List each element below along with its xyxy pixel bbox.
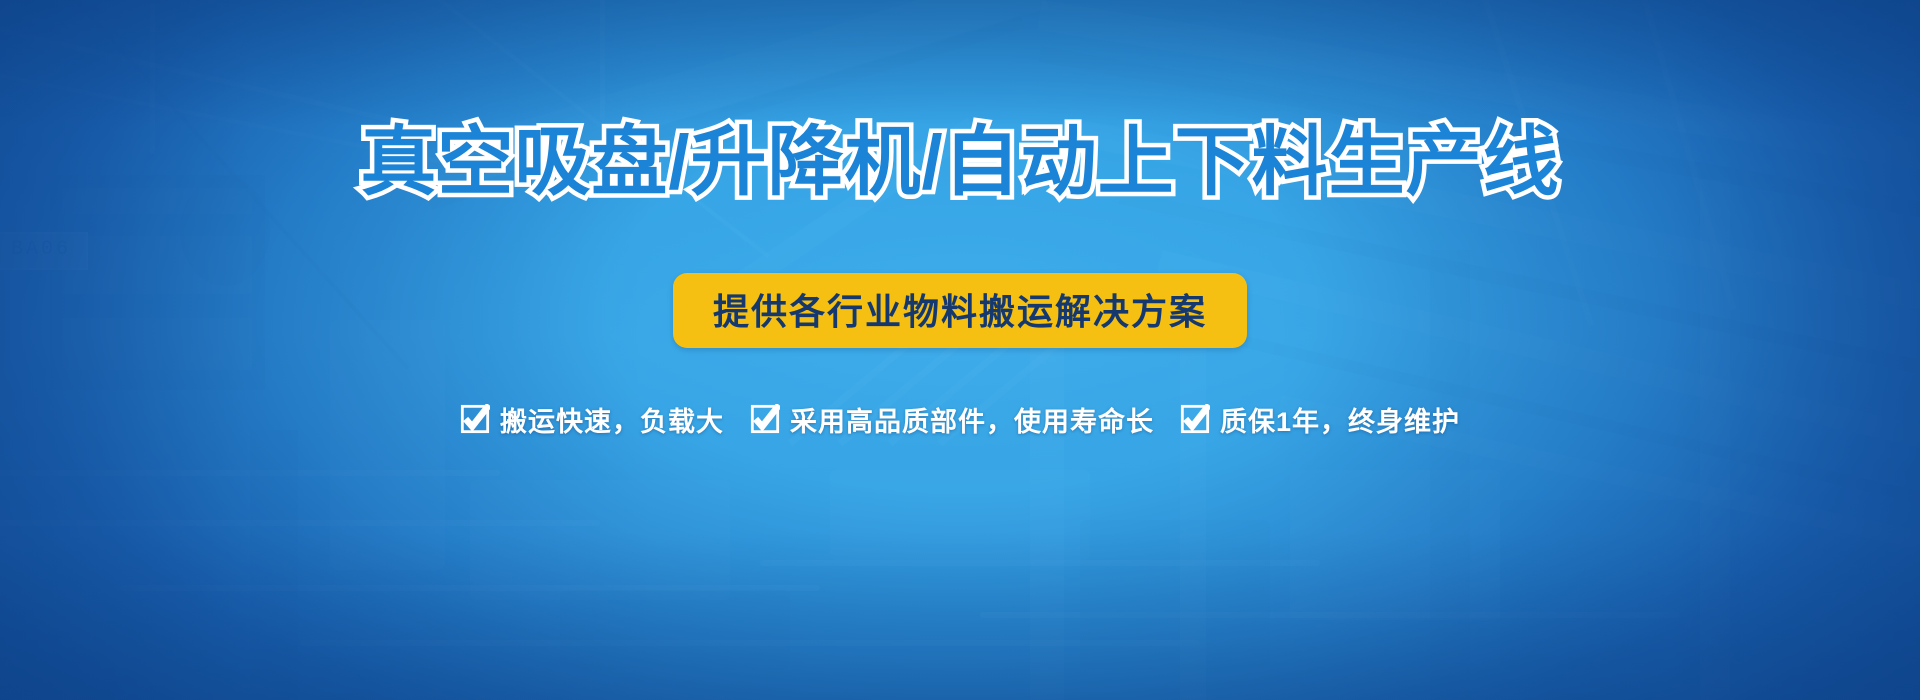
check-box-icon: [750, 404, 780, 434]
check-box-icon: [460, 404, 490, 434]
check-box-icon: [1180, 404, 1210, 434]
banner-headline: 真空吸盘/升降机/自动上下料生产线: [360, 122, 1559, 204]
feature-label: 搬运快速，负载大: [500, 400, 724, 439]
feature-label: 采用高品质部件，使用寿命长: [790, 400, 1154, 439]
banner-subtitle-pill: 提供各行业物料搬运解决方案: [673, 273, 1247, 348]
feature-list: 搬运快速，负载大 采用高品质部件，使用寿命长 质保1年，终身维护: [460, 400, 1460, 439]
promo-banner: BA06 真空吸盘/升降机/自动上下料生产线 提供各行业物料搬运解决方案 搬运快…: [0, 0, 1920, 700]
banner-content: 真空吸盘/升降机/自动上下料生产线 提供各行业物料搬运解决方案 搬运快速，负载大…: [0, 0, 1920, 700]
feature-item: 质保1年，终身维护: [1180, 400, 1460, 439]
feature-label: 质保1年，终身维护: [1220, 400, 1460, 439]
feature-item: 采用高品质部件，使用寿命长: [750, 400, 1154, 439]
feature-item: 搬运快速，负载大: [460, 400, 724, 439]
